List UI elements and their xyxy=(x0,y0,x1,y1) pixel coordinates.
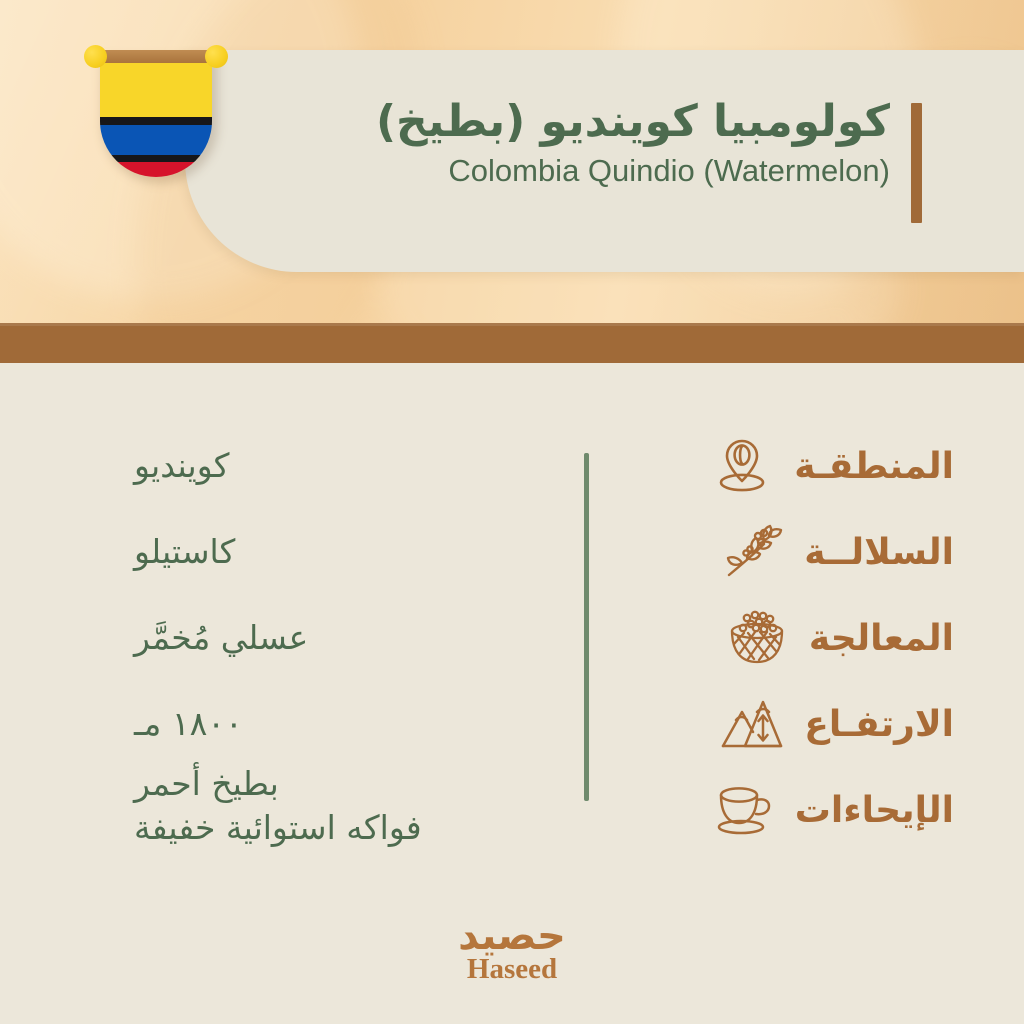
detail-row-notes: الإيحاءات بطيخ أحمر فواكه استوائية خفيفة xyxy=(0,767,1024,853)
colombia-flag-icon xyxy=(92,41,232,186)
detail-row-process: المعالجة xyxy=(0,595,1024,681)
detail-value-notes: بطيخ أحمر فواكه استوائية خفيفة xyxy=(134,762,554,849)
detail-row-region: المنطقـة كوينديو xyxy=(0,423,1024,509)
detail-label-notes: الإيحاءات xyxy=(795,790,954,831)
coffee-cup-icon xyxy=(709,778,777,842)
flag-rod xyxy=(92,50,220,63)
detail-label-varietal: السلالــة xyxy=(804,532,954,573)
detail-label-altitude: الارتفـاع xyxy=(804,704,954,745)
brand-logo: حصيد Haseed xyxy=(0,917,1024,986)
coffee-product-card: كولومبيا كوينديو (بطيخ) Colombia Quindio… xyxy=(0,0,1024,1024)
title-english: Colombia Quindio (Watermelon) xyxy=(225,152,890,189)
coffee-basket-icon xyxy=(723,606,791,670)
detail-value-varietal: كاستيلو xyxy=(134,530,554,574)
detail-row-varietal: السلالــة xyxy=(0,509,1024,595)
detail-label-region: المنطقـة xyxy=(794,446,954,487)
coffee-branch-icon xyxy=(718,520,786,584)
title-block: كولومبيا كوينديو (بطيخ) Colombia Quindio… xyxy=(225,96,890,189)
flag-knob-left xyxy=(84,45,107,68)
detail-row-altitude: الارتفـاع ١٨٠٠ مـ xyxy=(0,681,1024,767)
detail-value-altitude: ١٨٠٠ مـ xyxy=(134,702,554,746)
detail-value-process: عسلي مُخمَّر xyxy=(134,616,554,660)
mountain-altitude-icon xyxy=(718,692,786,756)
title-arabic: كولومبيا كوينديو (بطيخ) xyxy=(225,96,890,148)
header-banner: كولومبيا كوينديو (بطيخ) Colombia Quindio… xyxy=(0,0,1024,323)
details-section: المنطقـة كوينديو xyxy=(0,363,1024,1024)
location-pin-coffee-bean-icon xyxy=(708,434,776,498)
flag-knob-right xyxy=(205,45,228,68)
brand-name-arabic: حصيد xyxy=(0,917,1024,956)
title-accent-bar xyxy=(911,103,922,223)
title-card: كولومبيا كوينديو (بطيخ) Colombia Quindio… xyxy=(185,50,1024,272)
brown-divider-stripe xyxy=(0,323,1024,363)
detail-label-process: المعالجة xyxy=(809,618,954,659)
detail-value-region: كوينديو xyxy=(134,444,554,488)
brand-name-english: Haseed xyxy=(0,954,1024,986)
